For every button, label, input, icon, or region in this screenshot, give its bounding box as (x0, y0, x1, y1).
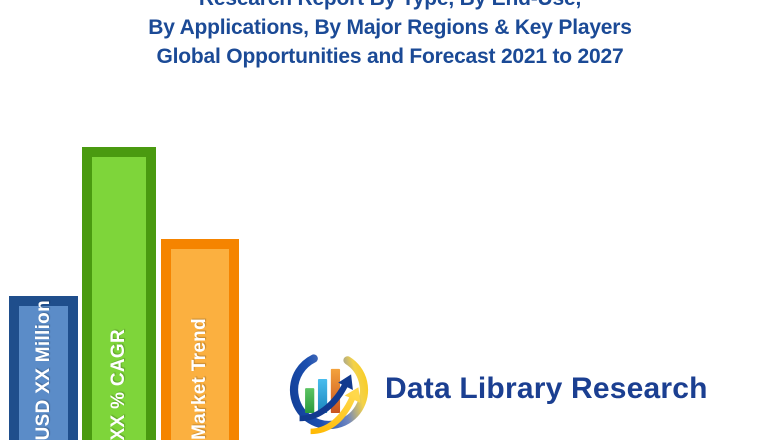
report-title-line-2: By Applications, By Major Regions & Key … (0, 13, 780, 42)
bar-label-market-trend: Market Trend (189, 316, 211, 440)
bar-label-usd-million: USD XX Million (33, 298, 55, 440)
data-library-research-logo-mark (283, 344, 375, 436)
market-bar-chart: USD XX Million XX % CAGR Market Trend (0, 130, 260, 440)
bar-market-trend: Market Trend (161, 239, 239, 440)
bar-cagr: XX % CAGR (82, 147, 156, 440)
report-title-line-1: Research Report By Type, By End-Use, (0, 0, 780, 13)
bar-label-cagr: XX % CAGR (108, 327, 130, 440)
market-report-poster: Research Report By Type, By End-Use, By … (0, 0, 780, 440)
brand-name: Data Library Research (385, 372, 708, 406)
bar-usd-million: USD XX Million (9, 296, 78, 440)
brand-logo: Data Library Research (283, 344, 708, 436)
report-title-line-3: Global Opportunities and Forecast 2021 t… (0, 42, 780, 71)
report-title-block: Research Report By Type, By End-Use, By … (0, 0, 780, 71)
